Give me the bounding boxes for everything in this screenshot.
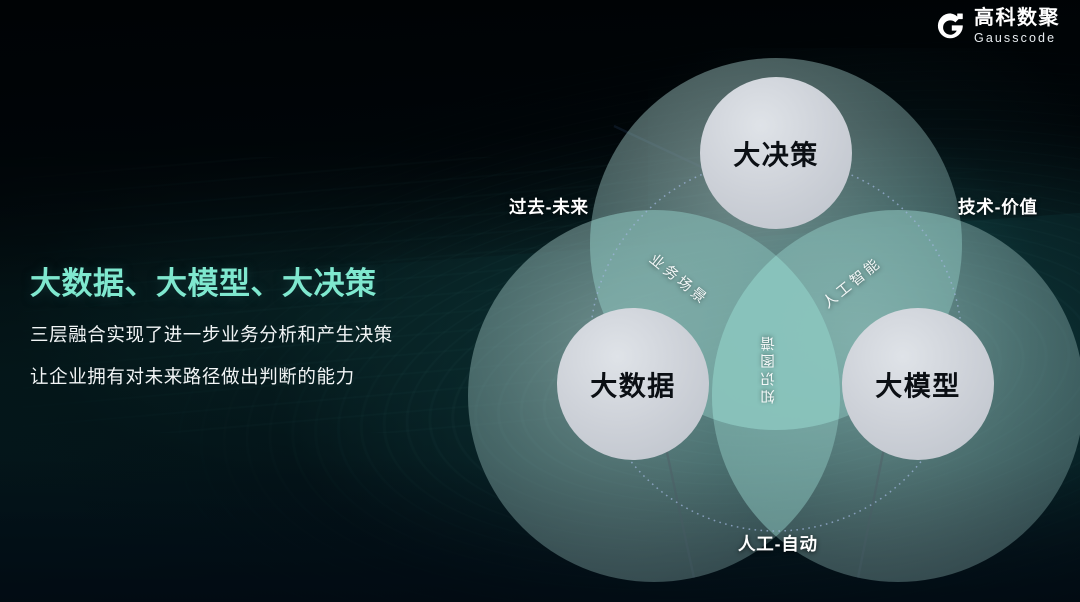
venn-diagram: 大决策 大数据 大模型 业务场景 人工智能 知识图谱 [486, 18, 1066, 578]
subtitle-line-2: 让企业拥有对未来路径做出判断的能力 [30, 363, 460, 389]
axis-label-manual-auto: 人工-自动 [738, 531, 818, 556]
page-title: 大数据、大模型、大决策 [30, 258, 460, 303]
copy-block: 大数据、大模型、大决策 三层融合实现了进一步业务分析和产生决策 让企业拥有对未来… [30, 258, 460, 405]
core-decision [700, 77, 852, 229]
axis-label-past-future: 过去-未来 [509, 194, 589, 219]
venn-svg [486, 18, 1066, 578]
axis-label-tech-value: 技术-价值 [958, 194, 1038, 219]
core-bigmodel [842, 308, 994, 460]
core-bigdata [557, 308, 709, 460]
slide-canvas: 高科数聚 Gausscode 大数据、大模型、大决策 三层融合实现了进一步业务分… [0, 0, 1080, 602]
subtitle-line-1: 三层融合实现了进一步业务分析和产生决策 [30, 321, 460, 347]
